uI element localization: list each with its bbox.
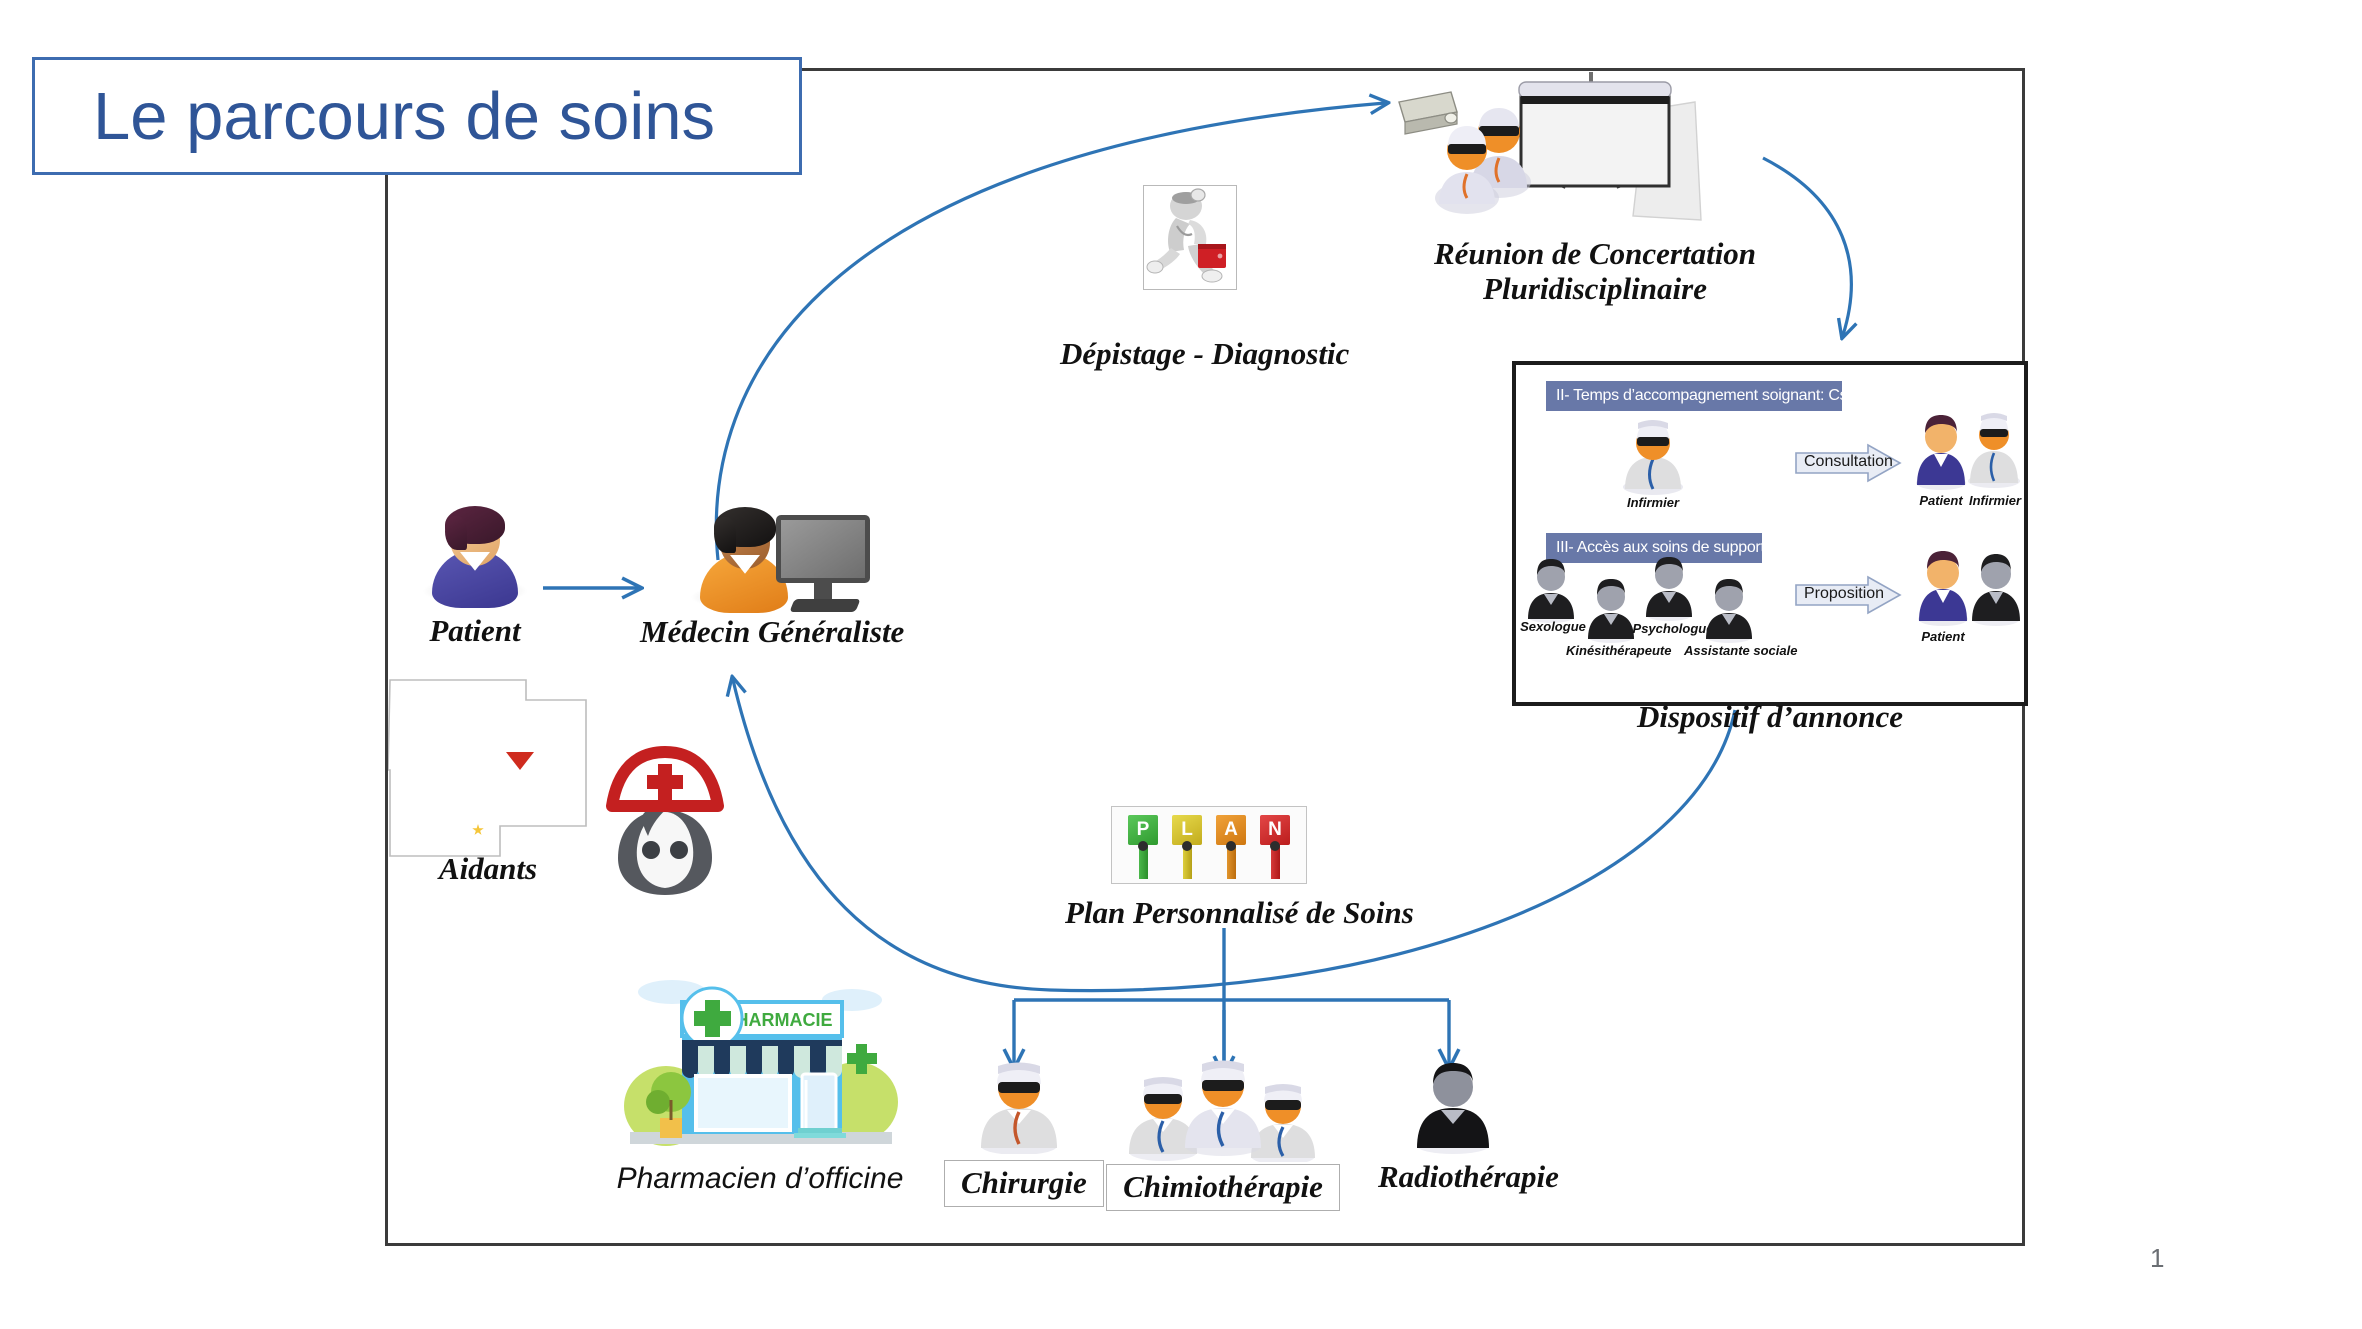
node-chirurgie-label: Chirurgie xyxy=(944,1160,1104,1207)
dp-infirmier-caption-2: Infirmier xyxy=(1956,493,2028,508)
node-radiotherapie-label: Radiothérapie xyxy=(1378,1160,1528,1195)
doctors-group-icon xyxy=(1113,1050,1333,1162)
plan-letters-icon: P L A N xyxy=(1111,806,1307,884)
dp-consultation-label: Consultation xyxy=(1804,453,1893,471)
node-pharmacien[interactable]: PHARMACIE xyxy=(600,960,920,1196)
node-chirurgie[interactable]: Chirurgie xyxy=(944,1062,1094,1207)
pharmacy-storefront-icon: PHARMACIE xyxy=(620,960,900,1160)
computer-monitor-icon xyxy=(758,515,870,613)
radiotherapist-icon xyxy=(1403,1060,1503,1154)
node-pharmacien-label: Pharmacien d’officine xyxy=(600,1162,920,1196)
dp-infirmier-avatar-icon-2 xyxy=(1964,405,2024,491)
surgeon-icon xyxy=(967,1062,1071,1154)
dp-infirmier-caption: Infirmier xyxy=(1608,495,1698,510)
node-patient-label: Patient xyxy=(410,614,540,649)
node-medecin-label: Médecin Généraliste xyxy=(640,615,900,650)
dp-section2-heading: II- Temps d’accompagnement soignant: Cs … xyxy=(1546,381,1842,411)
slide-canvas: Le parcours de soins Patient xyxy=(0,0,2362,1329)
node-depistage[interactable]: Dépistage - Diagnostic xyxy=(1060,185,1320,372)
node-chimiotherapie[interactable]: Chimiothérapie xyxy=(1098,1050,1348,1211)
dp-infirmier-avatar-icon xyxy=(1616,417,1690,495)
dp-sexologue-caption: Sexologue xyxy=(1518,619,1588,634)
dp-proposition-label: Proposition xyxy=(1804,585,1884,603)
node-aidants[interactable]: Aidants xyxy=(388,678,608,887)
nurse-icon xyxy=(590,730,740,895)
page-title: Le parcours de soins xyxy=(35,78,715,155)
dp-soignant-avatar-icon xyxy=(1968,551,2024,627)
node-radiotherapie[interactable]: Radiothérapie xyxy=(1378,1060,1528,1195)
projector-screen-meeting-icon xyxy=(1395,70,1795,235)
dp-patient-avatar-icon-1 xyxy=(1912,411,1970,491)
dp-kine-caption: Kinésithérapeute xyxy=(1566,643,1666,658)
dp-assistante-caption: Assistante sociale xyxy=(1684,643,1790,658)
dp-patient-caption-2: Patient xyxy=(1902,629,1984,644)
aidants-callout-shape xyxy=(388,678,588,858)
node-dispositif-label: Dispositif d’annonce xyxy=(1512,700,2028,735)
slide-title-box: Le parcours de soins xyxy=(32,57,802,175)
node-rcp-label-line2: Pluridisciplinaire xyxy=(1395,272,1795,307)
dp-psychologue-avatar-icon xyxy=(1642,555,1696,621)
running-doctor-with-bag-icon xyxy=(1143,185,1237,290)
node-pps-label: Plan Personnalisé de Soins xyxy=(1065,896,1385,931)
dispositif-annonce-panel[interactable]: II- Temps d’accompagnement soignant: Cs … xyxy=(1512,361,2028,706)
dp-sexologue-avatar-icon xyxy=(1524,557,1578,623)
patient-avatar-icon xyxy=(416,500,534,608)
node-depistage-label: Dépistage - Diagnostic xyxy=(1060,337,1320,372)
node-rcp[interactable]: Réunion de Concertation Pluridisciplinai… xyxy=(1395,70,1795,306)
dp-patient-avatar-icon-2 xyxy=(1914,547,1972,627)
node-rcp-label-line1: Réunion de Concertation xyxy=(1395,237,1795,272)
page-number: 1 xyxy=(2150,1243,2164,1274)
node-chimiotherapie-label: Chimiothérapie xyxy=(1106,1164,1340,1211)
dp-assistante-avatar-icon xyxy=(1702,577,1756,643)
node-patient[interactable]: Patient xyxy=(410,500,540,649)
node-medecin-generaliste[interactable]: Médecin Généraliste xyxy=(640,495,900,650)
node-pps[interactable]: P L A N Plan Personnalisé de Soins xyxy=(1065,806,1385,931)
